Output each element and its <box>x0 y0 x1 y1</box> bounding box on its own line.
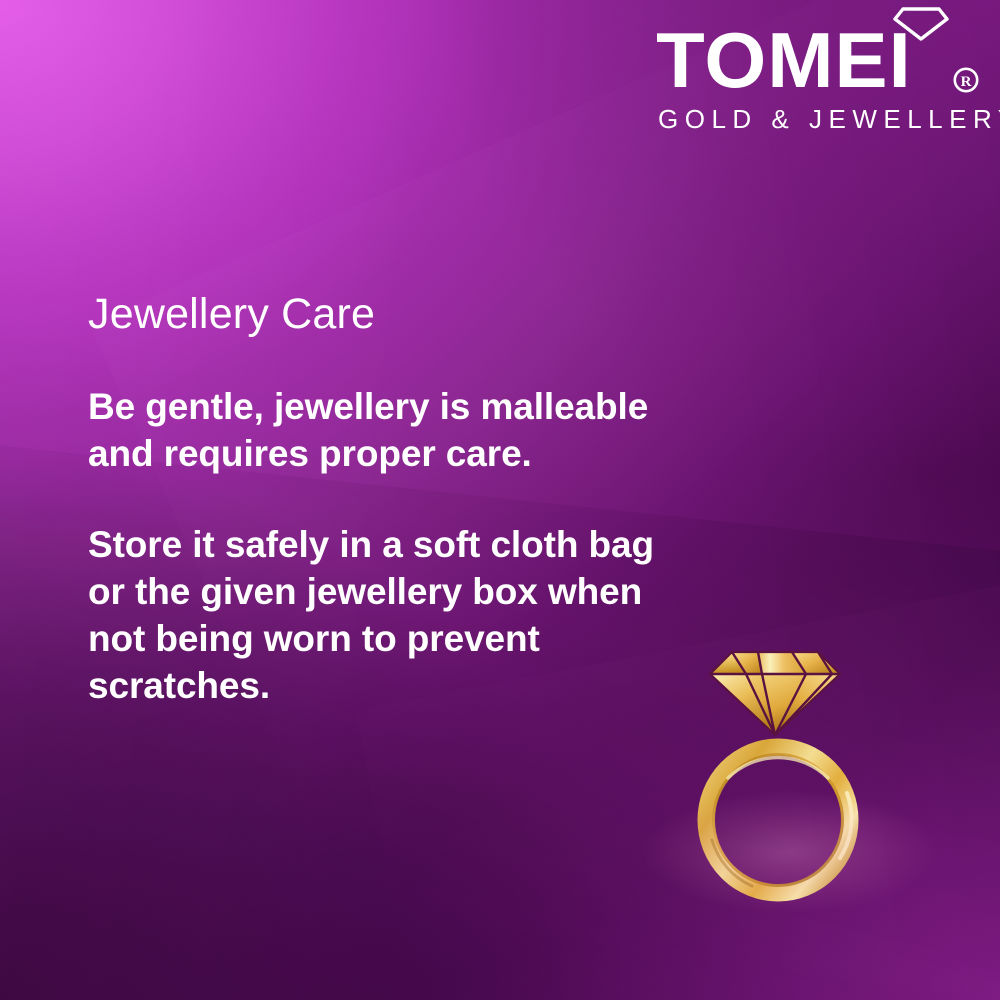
copy-block: Jewellery Care Be gentle, jewellery is m… <box>88 288 668 709</box>
page-title: Jewellery Care <box>88 288 668 340</box>
diamond-gem <box>710 652 840 735</box>
brand-wordmark-row: TOMEI R <box>648 20 978 100</box>
ring-band <box>706 747 852 893</box>
diamond-ring-illustration <box>690 630 890 920</box>
body-paragraph-2: Store it safely in a soft cloth bag or t… <box>88 521 668 709</box>
registered-trademark-icon: R <box>952 66 980 94</box>
poster-canvas: TOMEI R GOLD & JEWELLERY Jewellery Care … <box>0 0 1000 1000</box>
ring-band-outer <box>706 747 850 893</box>
svg-text:R: R <box>961 74 972 90</box>
brand-logo: TOMEI R GOLD & JEWELLERY <box>648 20 978 134</box>
brand-wordmark-text: TOMEI <box>648 20 985 100</box>
brand-tagline: GOLD & JEWELLERY <box>648 104 978 134</box>
diamond-ring-svg <box>690 630 890 920</box>
body-paragraph-1: Be gentle, jewellery is malleable and re… <box>88 383 668 477</box>
